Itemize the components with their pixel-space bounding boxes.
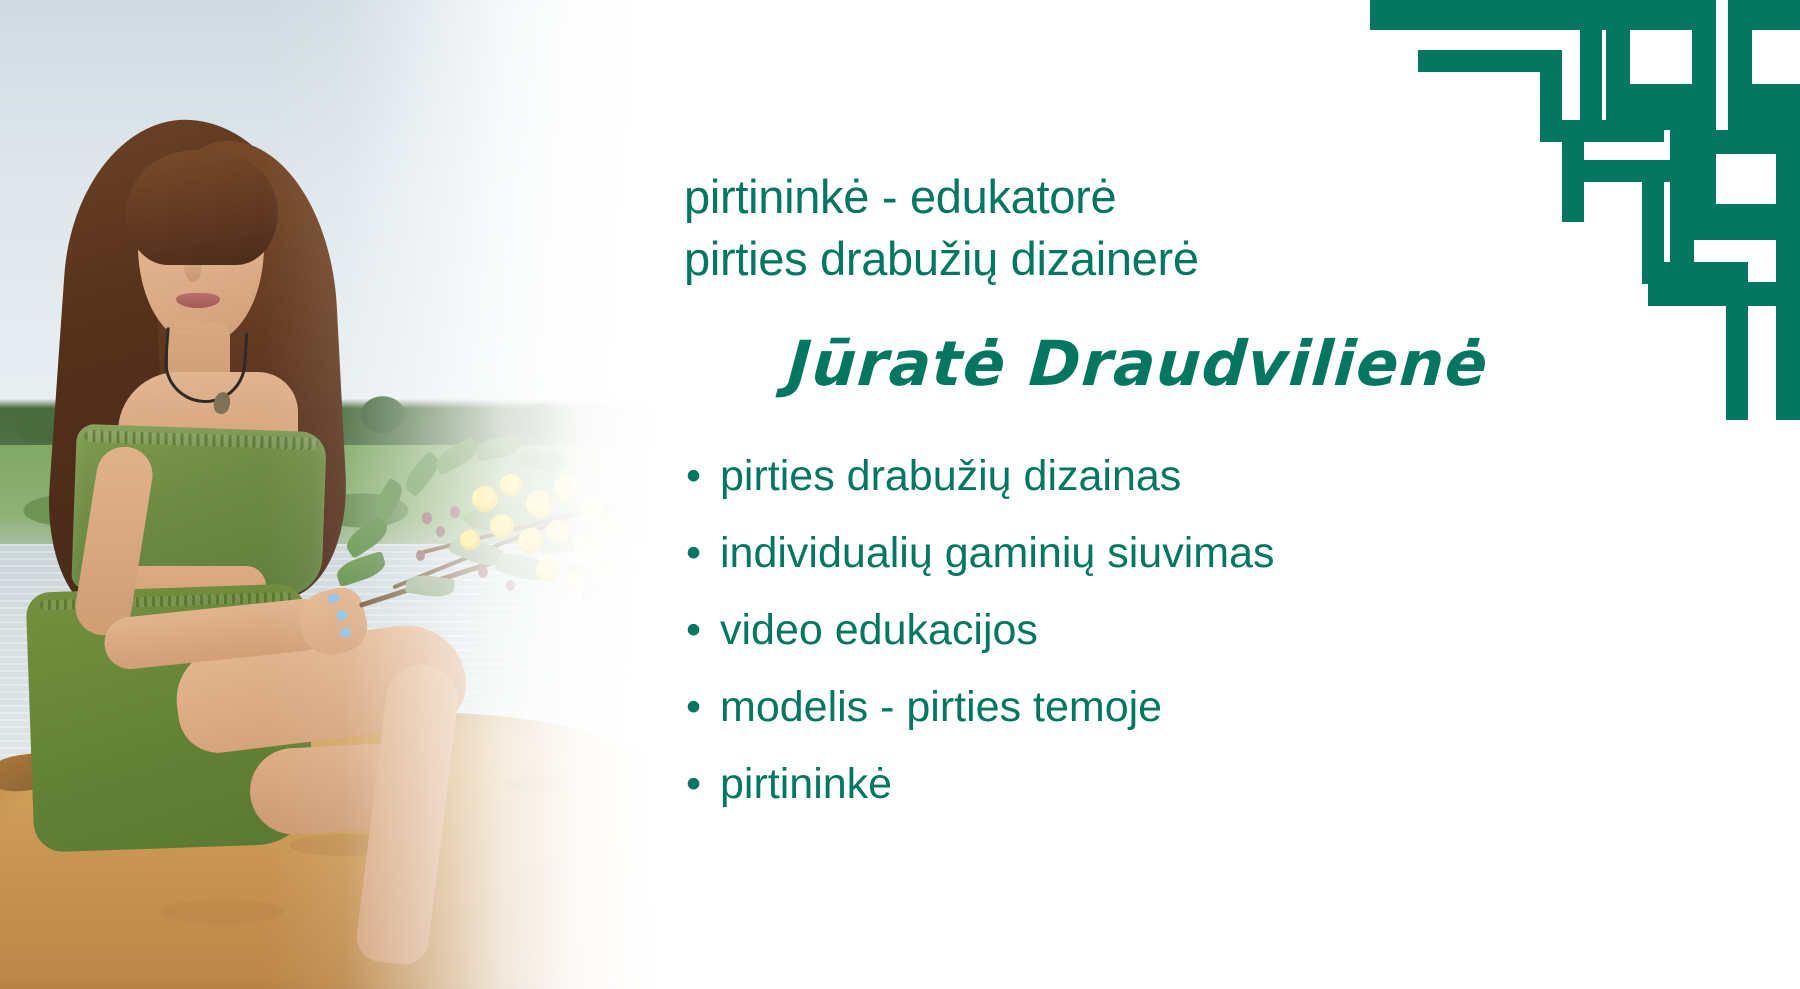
services-list: • pirties drabužių dizainas • individual… <box>686 455 1275 840</box>
yellow-flower <box>592 556 614 578</box>
bullet-marker-icon: • <box>686 609 720 652</box>
flower-bud <box>450 506 460 518</box>
yellow-flower <box>564 570 584 590</box>
list-item-label: video edukacijos <box>720 609 1038 652</box>
yellow-flower <box>554 476 578 500</box>
list-item: • modelis - pirties temoje <box>686 686 1275 729</box>
bullet-marker-icon: • <box>686 763 720 806</box>
bullet-marker-icon: • <box>686 686 720 729</box>
headline-block: pirtininkė - edukatorė pirties drabužių … <box>684 166 1199 290</box>
flower-bud <box>582 590 592 602</box>
list-item: • pirtininkė <box>686 763 1275 806</box>
headline-line-2: pirties drabužių dizainerė <box>684 228 1199 290</box>
list-item-label: individualių gaminių siuvimas <box>720 532 1275 575</box>
yellow-flower <box>582 496 604 518</box>
flower-bud <box>478 566 488 578</box>
portrait-photo <box>0 0 660 989</box>
list-item-label: pirties drabužių dizainas <box>720 455 1181 498</box>
leaf <box>518 445 567 476</box>
signature-name: Jūratė Draudvilienė <box>785 327 1491 400</box>
yellow-flower <box>574 534 598 558</box>
list-item: • individualių gaminių siuvimas <box>686 532 1275 575</box>
list-item: • video edukacijos <box>686 609 1275 652</box>
leaf <box>475 434 522 461</box>
list-item-label: pirtininkė <box>720 763 892 806</box>
flower-bud <box>436 526 445 537</box>
business-card: pirtininkė - edukatorė pirties drabužių … <box>0 0 1800 989</box>
yellow-flower <box>518 528 544 554</box>
hair-front <box>126 150 278 265</box>
headline-line-1: pirtininkė - edukatorė <box>684 166 1199 228</box>
yellow-flower <box>500 474 522 496</box>
leaf <box>432 436 482 475</box>
yellow-flower <box>546 520 568 542</box>
yellow-flower <box>490 514 514 538</box>
leaf <box>334 551 388 587</box>
photo-canvas <box>0 0 660 989</box>
list-item: • pirties drabužių dizainas <box>686 455 1275 498</box>
yellow-flower <box>598 518 620 540</box>
list-item-label: modelis - pirties temoje <box>720 686 1162 729</box>
wildflower-bouquet <box>330 430 630 660</box>
yellow-flower <box>472 486 498 512</box>
flower-bud <box>422 512 432 524</box>
flower-bud <box>506 580 515 591</box>
yellow-flower <box>526 490 554 518</box>
text-content: pirtininkė - edukatorė pirties drabužių … <box>678 0 1688 989</box>
flower-bud <box>416 550 425 561</box>
bullet-marker-icon: • <box>686 532 720 575</box>
leaf <box>369 478 407 523</box>
bullet-marker-icon: • <box>686 455 720 498</box>
yellow-flower <box>536 558 560 582</box>
yellow-flower <box>460 530 480 550</box>
